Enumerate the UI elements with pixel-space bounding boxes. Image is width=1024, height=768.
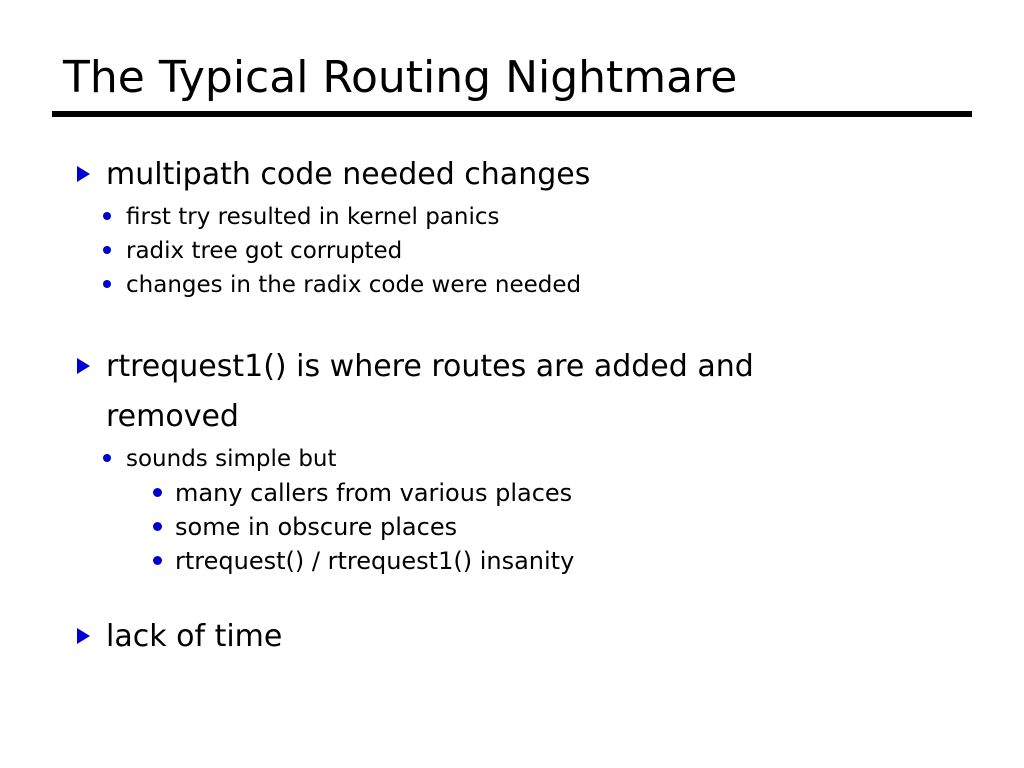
dot-icon: [103, 268, 119, 302]
dot-icon: [153, 544, 169, 578]
slide: The Typical Routing Nightmare multipath …: [0, 0, 1024, 768]
outline-item-text: rtrequest1() is where routes are added a…: [106, 349, 754, 434]
outline-item-level1: multipath code needed changes: [0, 150, 1024, 200]
outline-item-text: some in obscure places: [175, 513, 457, 541]
section-spacer: [0, 578, 1024, 612]
triangle-right-icon: [77, 150, 97, 200]
outline-item-level2: changes in the radix code were needed: [0, 268, 1024, 302]
dot-icon: [153, 510, 169, 544]
outline-item-text: lack of time: [106, 619, 282, 654]
outline-item-text: radix tree got corrupted: [126, 238, 402, 264]
outline-item-level1: lack of time: [0, 612, 1024, 662]
outline-item-level2: radix tree got corrupted: [0, 234, 1024, 268]
title-divider: [52, 111, 972, 117]
dot-icon: [103, 234, 119, 268]
section-spacer: [0, 302, 1024, 342]
outline-item-level2: sounds simple but: [0, 442, 1024, 476]
outline-item-level3: rtrequest() / rtrequest1() insanity: [0, 544, 1024, 578]
triangle-right-icon: [77, 342, 97, 392]
outline-item-text: changes in the radix code were needed: [126, 272, 581, 298]
slide-body: multipath code needed changes first try …: [0, 150, 1024, 662]
outline-item-level2: first try resulted in kernel panics: [0, 200, 1024, 234]
outline-item-text: first try resulted in kernel panics: [126, 204, 499, 230]
outline-item-level1: rtrequest1() is where routes are added a…: [0, 342, 1024, 442]
outline-item-text: many callers from various places: [175, 479, 572, 507]
outline-item-text: sounds simple but: [126, 446, 337, 472]
outline-item-level3: many callers from various places: [0, 476, 1024, 510]
page-title: The Typical Routing Nightmare: [63, 52, 973, 104]
dot-icon: [103, 200, 119, 234]
outline-item-level3: some in obscure places: [0, 510, 1024, 544]
dot-icon: [103, 442, 119, 476]
triangle-right-icon: [77, 612, 97, 662]
dot-icon: [153, 476, 169, 510]
outline-item-text: rtrequest() / rtrequest1() insanity: [175, 547, 574, 575]
outline-item-text: multipath code needed changes: [106, 157, 590, 192]
